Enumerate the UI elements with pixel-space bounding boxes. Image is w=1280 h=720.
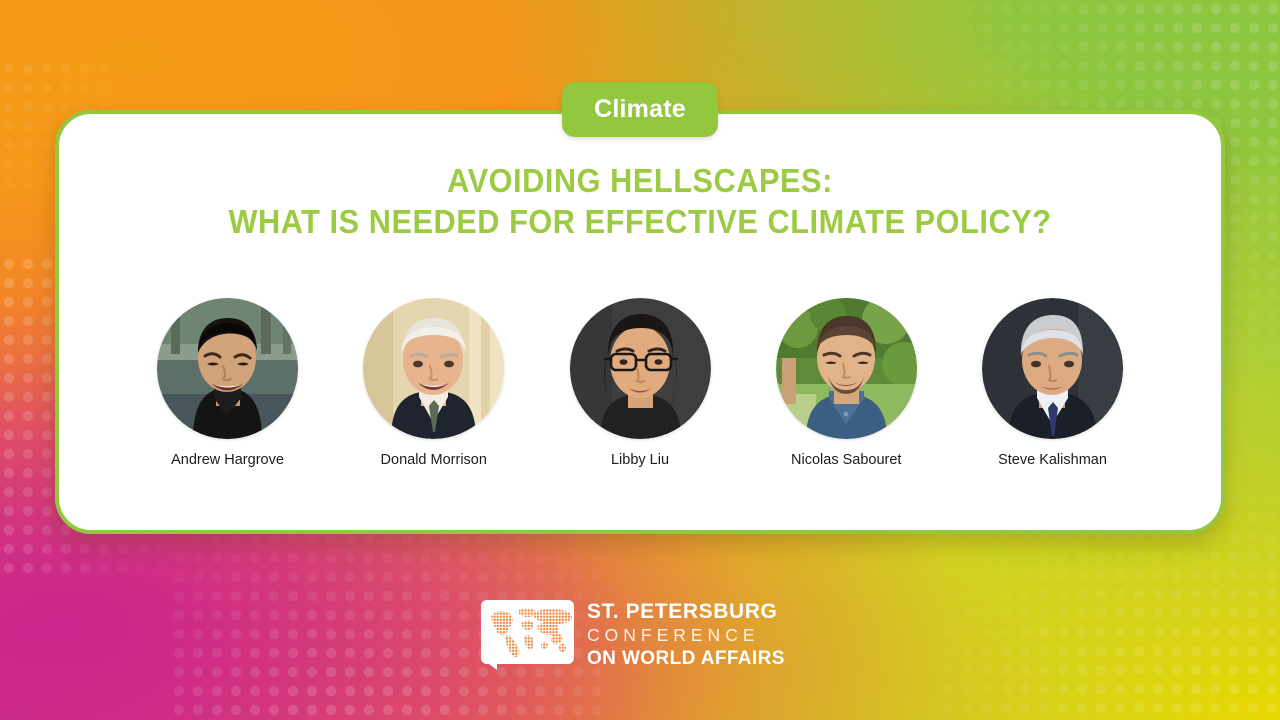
topic-badge[interactable]: Climate [562,82,718,137]
avatar [570,298,711,439]
speaker-card[interactable]: Donald Morrison [346,298,521,468]
speaker-card[interactable]: Nicolas Sabouret [759,298,934,468]
avatar [157,298,298,439]
speaker-card[interactable]: Steve Kalishman [965,298,1140,468]
conference-logo: ST. PETERSBURG CONFERENCE ON WORLD AFFAI… [481,600,785,670]
speaker-name: Libby Liu [611,452,669,468]
speaker-card[interactable]: Andrew Hargrove [140,298,315,468]
logo-line-1: ST. PETERSBURG [587,600,785,624]
session-title-line-2: WHAT IS NEEDED FOR EFFECTIVE CLIMATE POL… [119,201,1161,242]
speaker-list: Andrew Hargrove [140,298,1140,468]
avatar [776,298,917,439]
logo-text: ST. PETERSBURG CONFERENCE ON WORLD AFFAI… [587,600,785,670]
session-title-line-1: AVOIDING HELLSCAPES: [119,160,1161,201]
session-title: AVOIDING HELLSCAPES: WHAT IS NEEDED FOR … [119,160,1161,242]
topic-badge-label: Climate [594,95,686,124]
logo-line-3: ON WORLD AFFAIRS [587,647,785,670]
speaker-name: Donald Morrison [381,452,487,468]
speaker-name: Andrew Hargrove [171,452,284,468]
speaker-name: Nicolas Sabouret [791,452,901,468]
avatar [982,298,1123,439]
speech-bubble-world-map-icon [481,600,574,670]
logo-line-2: CONFERENCE [587,624,785,647]
speaker-card[interactable]: Libby Liu [553,298,728,468]
avatar [363,298,504,439]
speaker-name: Steve Kalishman [998,452,1107,468]
